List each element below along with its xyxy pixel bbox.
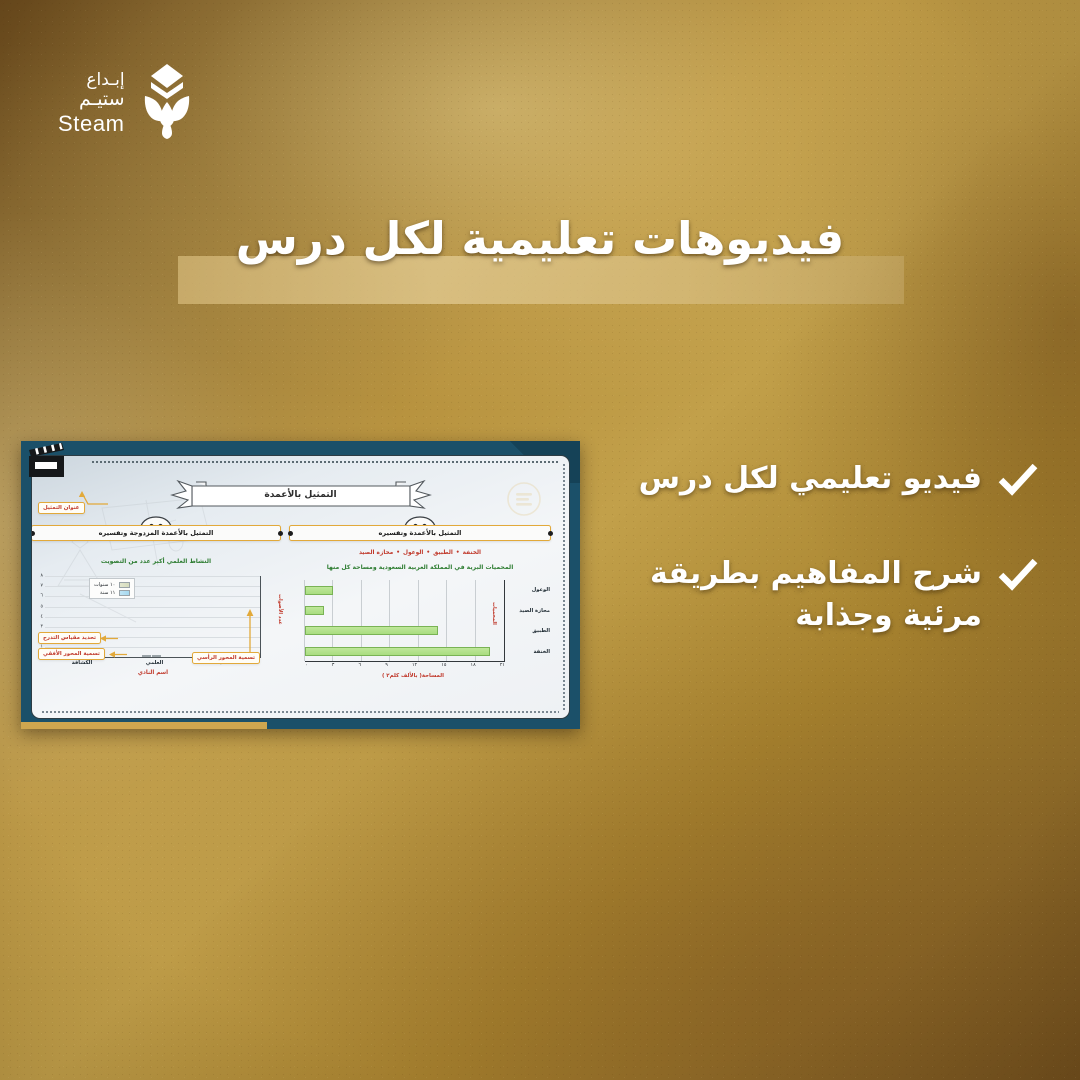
legend-swatch [119,590,130,596]
callout-scale: تحديد مقياس التدرج [38,632,101,644]
caption-dot-left [288,531,293,536]
legend-swatch [119,582,130,588]
film-clapperboard-icon [24,441,70,481]
y-tick: ٥ [41,604,43,609]
column-groups [49,576,254,657]
series-legend-item: الوعول [403,550,423,556]
x-tick: ٠ [305,663,308,668]
right-chart-x-ticks: ٠ ٣ ٦ ٩ ١٢ ١٥ ١٨ ٢١ [305,663,505,668]
left-chart-legend: ١٠ سنوات ١١ سنة [89,578,135,599]
brand-latin-name: Steam [58,112,125,136]
bar-rows [305,580,504,661]
left-chart-plot-area: ٨ ٧ ٦ ٥ ٤ ٣ ٢ ١ ٠ [45,576,261,658]
list-item: شرح المفاهيم بطريقة مرئية وجذابة [568,553,1038,638]
bullet-text: فيديو تعليمي لكل درس [568,458,982,501]
legend-item: ١٠ سنوات [94,582,130,588]
series-legend-item: الخنفة [463,550,481,556]
steam-plant-logo-icon [136,62,198,140]
y-tick: ٤ [41,614,43,619]
x-tick: ٢١ [500,663,505,668]
callout-arrow-chart-title [76,490,110,506]
horizontal-bar-chart: المحميات [289,576,551,684]
x-tick: ١٢ [412,663,417,668]
left-chart-x-axis-title: اسم النادي [45,670,261,676]
right-chart-category-labels: الوعول محازة الصيد الطبيق الخنفة [505,580,551,662]
x-tick-label: العلمي [146,660,164,670]
y-tick: ٧ [41,584,43,589]
callout-x-axis-name: تسمية المحور الأفقي [38,648,105,660]
panel-right-caption: التمثيل بالأعمدة وتفسيره [289,525,551,541]
right-chart-plot-area [305,580,505,662]
x-tick: ١٨ [471,663,476,668]
callout-arrow-scale [99,634,119,643]
slide-dashed-border-bottom [42,711,559,713]
column-group [142,655,162,657]
slide-bottom-accent-bar [21,722,267,729]
page-title: فيديوهات تعليمية لكل درس [0,212,1080,265]
poster-canvas: إبـداع ستيـم Steam فيديوهات تعليمية لكل … [0,0,1080,1080]
ribbon-title-text: التمثيل بالأعمدة [166,489,436,500]
x-tick: ٩ [385,663,388,668]
y-tick: ٦ [41,594,43,599]
brand-arabic-line2: ستيـم [79,89,125,111]
left-chart-y-axis-label: عدد الأصوات [277,594,283,625]
slide-panel-right: التمثيل بالأعمدة وتفسيره الخنفة•الطبيق•ا… [289,516,551,684]
panel-left-caption-text: التمثيل بالأعمدة المزدوجة وتفسيره [99,529,214,537]
x-tick: ٦ [359,663,362,668]
horizontal-bar [305,647,490,656]
horizontal-bar [305,606,324,615]
y-tick: ٣ [41,624,43,629]
series-legend-item: محازة الصيد [359,550,393,556]
slide-ribbon-title: التمثيل بالأعمدة [166,478,436,512]
caption-dot-right [278,531,283,536]
slide-dashed-border-top [92,461,559,463]
category-label: محازة الصيد [505,608,550,614]
callout-arrow-x-axis [108,650,128,659]
y-tick: ٨ [41,574,43,579]
caption-dot-right [548,531,553,536]
horizontal-bar [305,626,438,635]
lesson-video-slide-thumbnail[interactable]: التمثيل بالأعمدة التمثيل بالأعمدة المزدو… [21,441,580,729]
legend-label: ١٠ سنوات [94,582,115,588]
horizontal-bar [305,586,333,595]
panel-left-caption: التمثيل بالأعمدة المزدوجة وتفسيره [31,525,281,541]
x-tick: ١٥ [441,663,446,668]
x-tick: ٣ [332,663,335,668]
brand-wordmark: إبـداع ستيـم Steam [58,62,125,136]
ibdaa-steam-watermark-icon [507,482,541,520]
x-tick-label: الكشافة [72,660,93,670]
legend-label: ١١ سنة [100,590,115,596]
list-item: فيديو تعليمي لكل درس [568,458,1038,501]
brand-logo: إبـداع ستيـم Steam [58,62,198,140]
left-chart-note: النشاط العلمي أكبر عدد من التصويت [31,557,281,566]
category-label: الوعول [505,587,550,593]
check-mark-icon [998,553,1038,595]
bullet-text: شرح المفاهيم بطريقة مرئية وجذابة [568,553,982,638]
category-label: الطبيق [505,628,550,634]
panel-right-caption-text: التمثيل بالأعمدة وتفسيره [379,529,462,537]
slide-dashed-border-right [563,464,565,710]
right-chart-title: المحميات البرية في المملكة العربية السعو… [289,563,551,572]
column-bar [152,655,161,657]
callout-arrow-y-axis [245,608,255,654]
column-bar [142,655,151,657]
series-legend-item: الطبيق [433,550,453,556]
right-chart-x-axis-title: المساحة( بالألف كلم٢ ) [329,673,497,679]
check-mark-icon [998,458,1038,500]
caption-dot-left [31,531,35,536]
slide-canvas: التمثيل بالأعمدة التمثيل بالأعمدة المزدو… [31,455,570,719]
legend-item: ١١ سنة [94,590,130,596]
page-title-block: فيديوهات تعليمية لكل درس [0,212,1080,308]
category-label: الخنفة [505,649,550,655]
right-chart-series-legend: الخنفة•الطبيق•الوعول•محازة الصيد [289,550,551,556]
feature-bullet-list: فيديو تعليمي لكل درس شرح المفاهيم بطريقة… [568,458,1038,638]
